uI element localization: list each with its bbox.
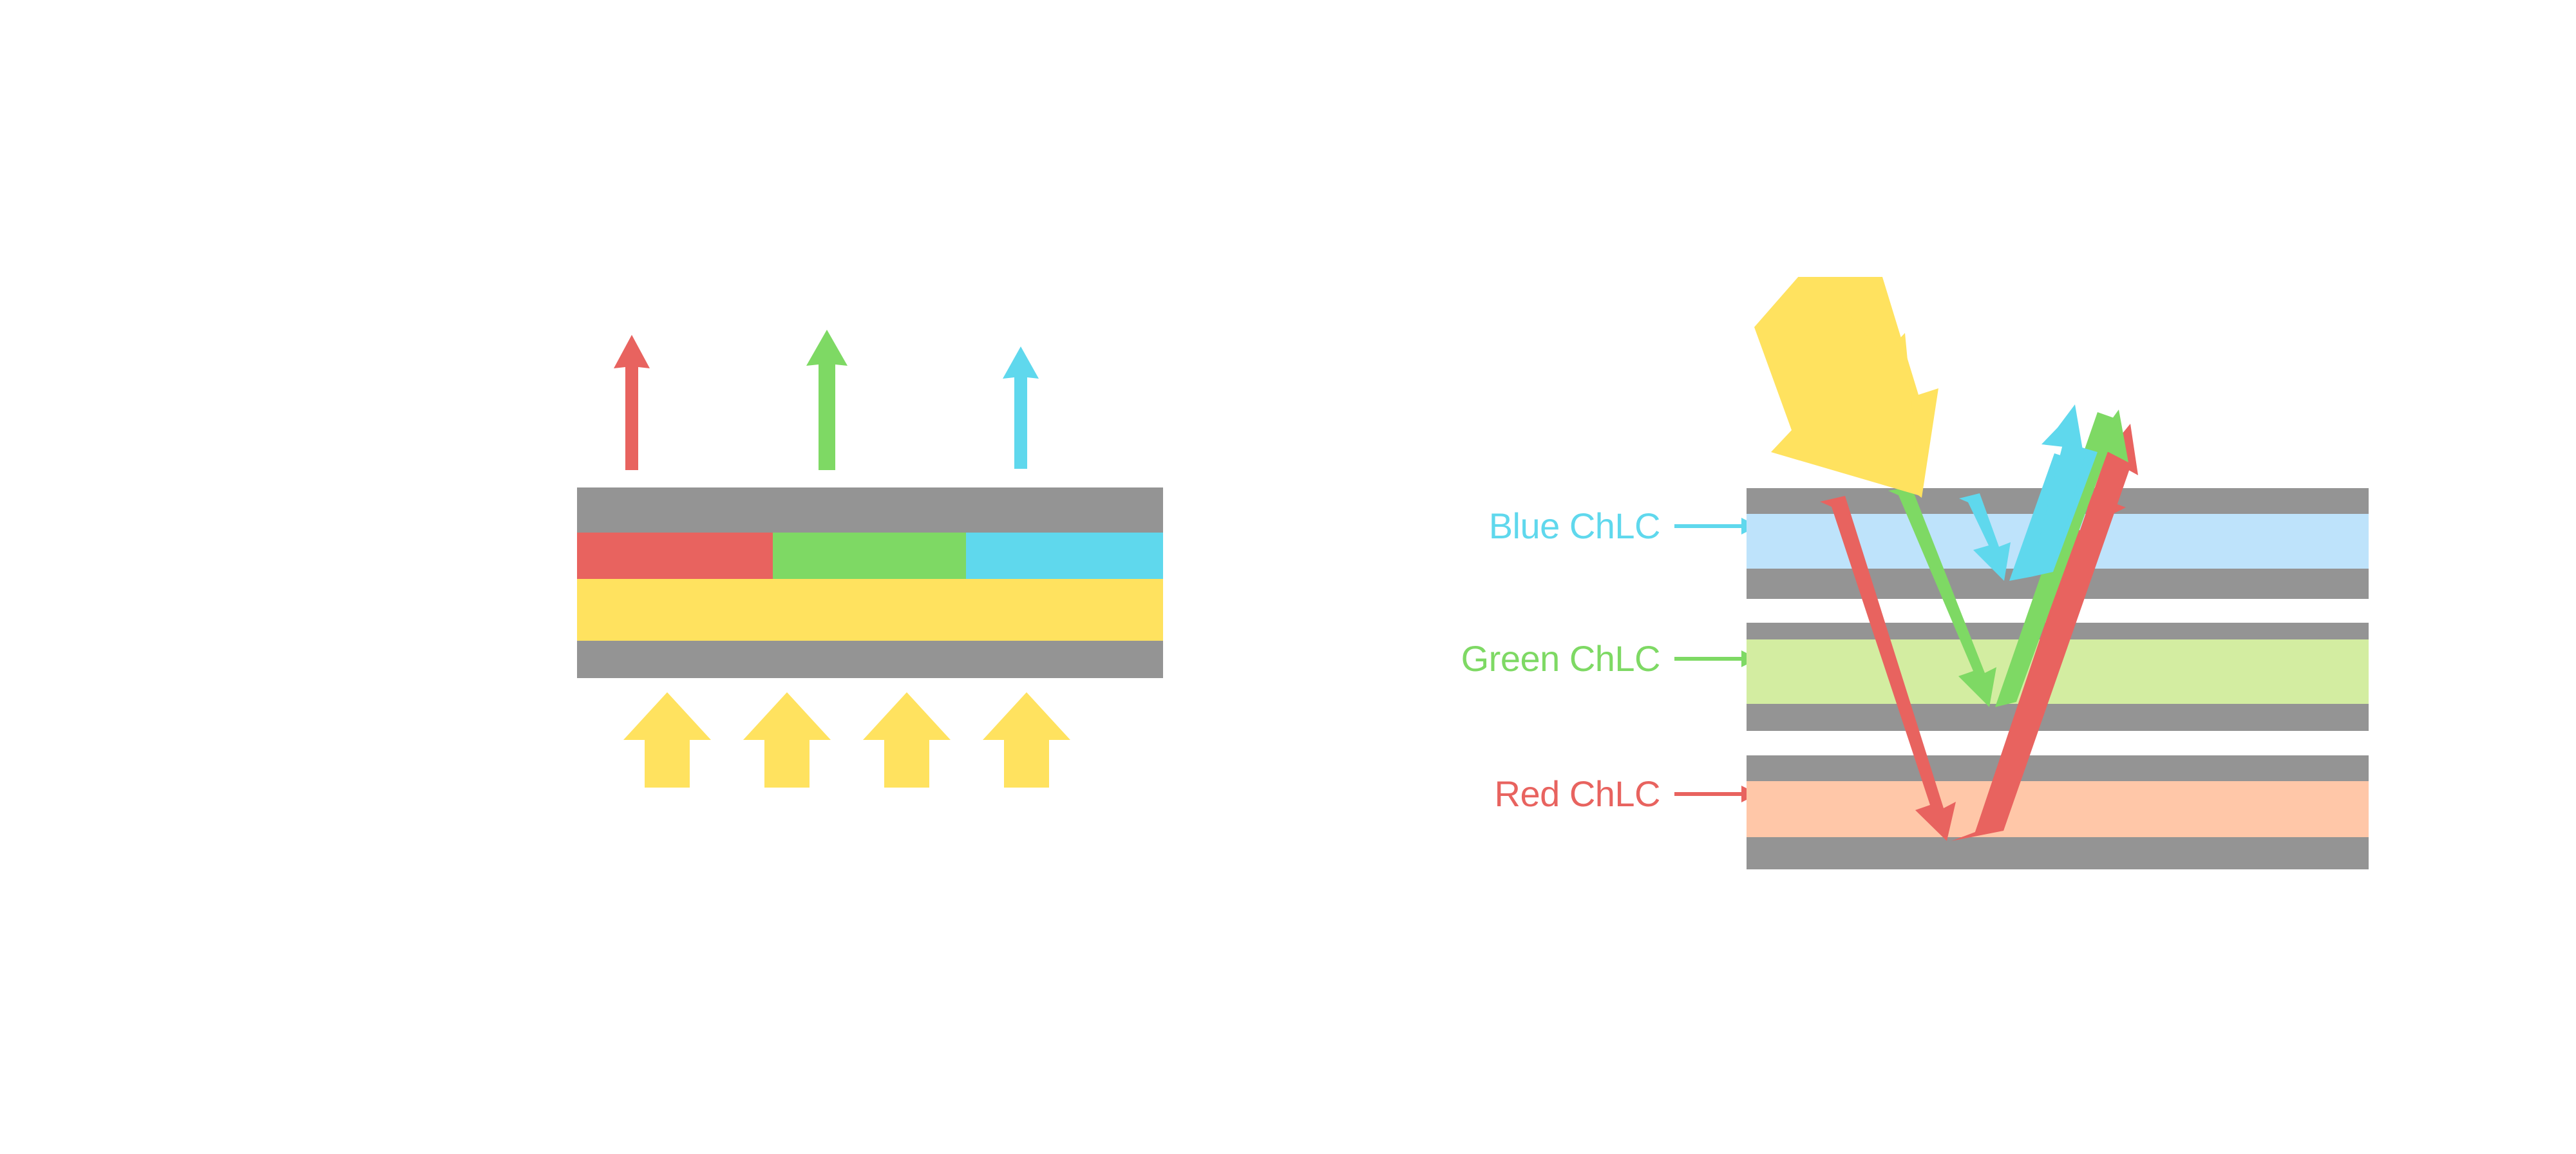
arrow-up-icon	[622, 692, 712, 788]
blue-subpixel	[966, 533, 1163, 579]
arrow-up-icon	[862, 692, 952, 788]
emission-panel	[577, 335, 1163, 811]
label-red-chlc-text: Red ChLC	[1495, 773, 1660, 815]
layer-fill	[577, 641, 1163, 678]
layer-color-filter	[577, 533, 1163, 579]
layer-bottom-electrode	[577, 641, 1163, 678]
emitted-blue-arrow	[998, 346, 1043, 469]
label-green-chlc-text: Green ChLC	[1461, 638, 1660, 679]
layer-top-electrode	[577, 487, 1163, 533]
label-red-chlc: Red ChLC	[1495, 773, 1758, 815]
label-blue-chlc-text: Blue ChLC	[1489, 505, 1660, 547]
backlight-arrow-2	[742, 692, 832, 788]
right-arrow-icon	[1674, 648, 1758, 670]
right-arrow-icon	[1674, 783, 1758, 805]
arrow-up-icon	[742, 692, 832, 788]
backlight-arrow-3	[862, 692, 952, 788]
chlc-layer-labels: Blue ChLC Green ChLC Red ChLC	[1385, 489, 1758, 850]
right-arrow-icon	[1674, 515, 1758, 537]
arrow-up-icon	[801, 330, 853, 470]
backlight-arrow-1	[622, 692, 712, 788]
label-blue-chlc: Blue ChLC	[1489, 505, 1758, 547]
layer-backlight	[577, 579, 1163, 641]
arrow-up-icon	[609, 335, 654, 470]
emissive-layer-stack	[577, 487, 1163, 678]
figure-canvas: Blue ChLC Green ChLC Red ChLC	[0, 0, 2576, 1154]
ambient-light-arrow	[1747, 277, 2391, 882]
label-green-chlc: Green ChLC	[1461, 638, 1758, 679]
reflection-panel	[1747, 277, 2391, 882]
emitted-green-arrow	[801, 330, 853, 470]
ambient-arrow-body	[1754, 277, 1920, 496]
red-subpixel	[577, 533, 773, 579]
layer-fill	[577, 579, 1163, 641]
emitted-red-arrow	[609, 335, 654, 470]
backlight-arrow-4	[981, 692, 1072, 788]
layer-fill	[577, 487, 1163, 533]
arrow-up-icon	[998, 346, 1043, 469]
arrow-up-icon	[981, 692, 1072, 788]
green-subpixel	[773, 533, 966, 579]
